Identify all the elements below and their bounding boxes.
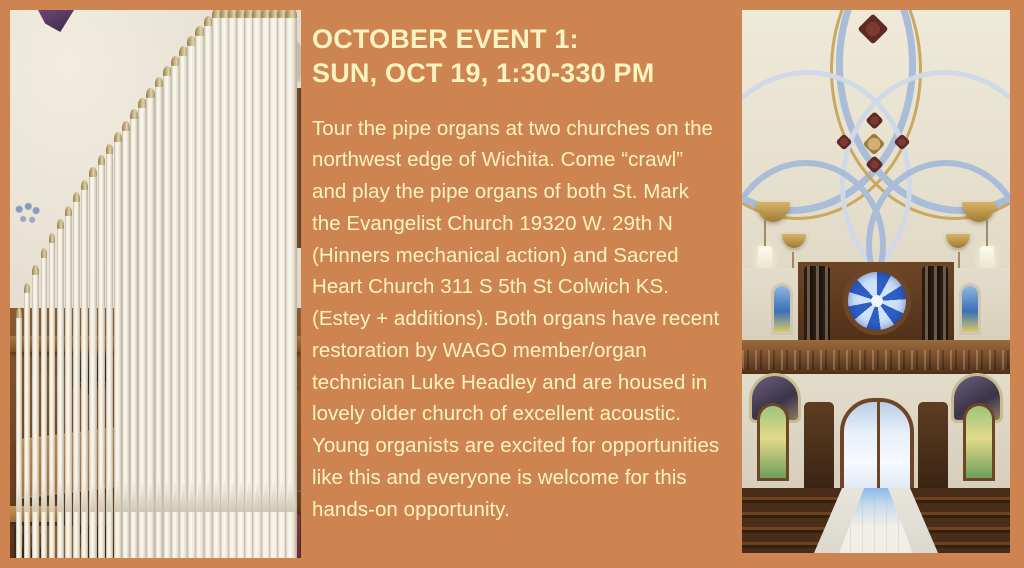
- organ-pipe: [32, 265, 38, 559]
- organ-pipe: [89, 167, 97, 558]
- organ-pipe: [81, 180, 88, 558]
- side-door: [804, 402, 834, 488]
- organ-pipe-tower: [922, 266, 948, 342]
- entrance-doors: [840, 398, 914, 494]
- organ-pipe-tower: [804, 266, 830, 342]
- stained-glass-lancet: [774, 286, 790, 332]
- rose-window: [848, 272, 906, 330]
- side-stained-glass-window: [966, 406, 992, 478]
- stained-glass-lancet: [962, 286, 978, 332]
- event-description: Tour the pipe organs at two churches on …: [312, 113, 722, 526]
- organ-pipe: [16, 308, 22, 558]
- organ-pipe: [65, 206, 72, 559]
- organ-pipe: [114, 132, 122, 558]
- side-stained-glass-window: [760, 406, 786, 478]
- organ-pipe: [130, 109, 138, 558]
- organ-pipe: [57, 219, 64, 558]
- organ-pipes-group: [10, 10, 301, 558]
- page-title: OCTOBER EVENT 1: SUN, OCT 19, 1:30-330 P…: [312, 22, 722, 91]
- organ-pipe: [98, 155, 106, 558]
- text-column: OCTOBER EVENT 1: SUN, OCT 19, 1:30-330 P…: [312, 22, 722, 526]
- balcony-railing: [742, 340, 1010, 374]
- organ-pipe: [41, 248, 48, 558]
- organ-pipe: [106, 144, 114, 559]
- organ-pipe: [49, 233, 56, 558]
- slide-canvas: OCTOBER EVENT 1: SUN, OCT 19, 1:30-330 P…: [0, 0, 1024, 568]
- pipe-organ-facade-photo: [10, 10, 301, 558]
- organ-pipe: [24, 283, 30, 558]
- side-door: [918, 402, 948, 488]
- organ-pipe: [73, 192, 80, 558]
- organ-pipe: [146, 88, 155, 558]
- church-nave-interior-photo: [742, 10, 1010, 553]
- organ-pipe: [122, 121, 130, 558]
- organ-pipe: [285, 10, 297, 558]
